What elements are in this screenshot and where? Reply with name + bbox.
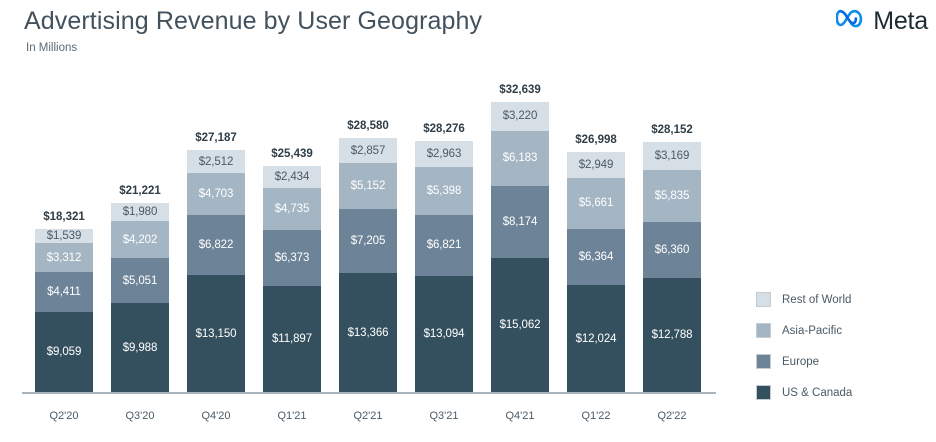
bar-total-label: $27,187 xyxy=(187,132,245,144)
legend-item[interactable]: US & Canada xyxy=(756,385,852,400)
legend-item-label: US & Canada xyxy=(782,387,852,399)
bar-stack[interactable]: $2,963$5,398$6,821$13,094 xyxy=(415,141,473,392)
chart-subtitle: In Millions xyxy=(26,42,77,54)
bar-segment-value[interactable]: $6,364 xyxy=(567,229,625,286)
bar-total-label: $21,221 xyxy=(111,185,169,197)
bar-segment-value[interactable]: $12,788 xyxy=(643,278,701,392)
x-axis-tick-label: Q3'21 xyxy=(409,410,479,422)
bar-segment-value[interactable]: $3,220 xyxy=(491,102,549,131)
bar-stack[interactable]: $3,169$5,835$6,360$12,788 xyxy=(643,142,701,392)
x-axis-tick-label: Q1'21 xyxy=(257,410,327,422)
x-axis-tick-label: Q2'21 xyxy=(333,410,403,422)
bar-segment-value[interactable]: $6,183 xyxy=(491,131,549,186)
bar-total-label: $28,580 xyxy=(339,120,397,132)
x-axis-tick-label: Q4'20 xyxy=(181,410,251,422)
bar-segment-value[interactable]: $13,366 xyxy=(339,273,397,392)
chart-legend: Rest of WorldAsia-PacificEuropeUS & Cana… xyxy=(756,292,852,400)
bar-total-label: $28,276 xyxy=(415,123,473,135)
bar-segment-value[interactable]: $3,169 xyxy=(643,142,701,170)
bar-segment-value[interactable]: $5,051 xyxy=(111,258,169,303)
bar-segment-value[interactable]: $1,539 xyxy=(35,229,93,243)
meta-wordmark: Meta xyxy=(873,9,928,34)
bar-total-label: $26,998 xyxy=(567,134,625,146)
bar-segment-value[interactable]: $6,822 xyxy=(187,215,245,276)
bar-segment-value[interactable]: $2,963 xyxy=(415,141,473,167)
bar-segment-value[interactable]: $2,949 xyxy=(567,152,625,178)
bar-stack[interactable]: $1,980$4,202$5,051$9,988 xyxy=(111,203,169,392)
meta-brand: Meta xyxy=(836,8,928,35)
bar-segment-value[interactable]: $9,059 xyxy=(35,312,93,392)
x-axis-tick-label: Q4'21 xyxy=(485,410,555,422)
x-axis-tick-label: Q3'20 xyxy=(105,410,175,422)
bar-segment-value[interactable]: $6,373 xyxy=(263,230,321,287)
legend-swatch-icon xyxy=(756,385,771,400)
bar-stack[interactable]: $2,434$4,735$6,373$11,897 xyxy=(263,166,321,392)
bar-segment-value[interactable]: $2,857 xyxy=(339,138,397,163)
legend-item[interactable]: Asia-Pacific xyxy=(756,323,852,338)
bar-segment-value[interactable]: $8,174 xyxy=(491,186,549,259)
bar-total-label: $28,152 xyxy=(643,124,701,136)
bar-segment-value[interactable]: $6,360 xyxy=(643,222,701,279)
bar-total-label: $18,321 xyxy=(35,211,93,223)
bar-segment-value[interactable]: $11,897 xyxy=(263,286,321,392)
bar-segment-value[interactable]: $15,062 xyxy=(491,258,549,392)
legend-item-label: Rest of World xyxy=(782,294,851,306)
legend-item[interactable]: Rest of World xyxy=(756,292,852,307)
bar-stack[interactable]: $1,539$3,312$4,411$9,059 xyxy=(35,229,93,392)
bar-segment-value[interactable]: $4,735 xyxy=(263,188,321,230)
bar-segment-value[interactable]: $2,434 xyxy=(263,166,321,188)
bar-stack[interactable]: $2,949$5,661$6,364$12,024 xyxy=(567,152,625,392)
bar-total-label: $25,439 xyxy=(263,148,321,160)
x-axis-tick-label: Q2'22 xyxy=(637,410,707,422)
bar-segment-value[interactable]: $4,202 xyxy=(111,221,169,258)
bar-stack[interactable]: $2,857$5,152$7,205$13,366 xyxy=(339,138,397,392)
bar-total-label: $32,639 xyxy=(491,84,549,96)
bar-segment-value[interactable]: $4,703 xyxy=(187,173,245,215)
x-axis-tick-label: Q2'20 xyxy=(29,410,99,422)
bar-segment-value[interactable]: $13,150 xyxy=(187,275,245,392)
legend-item-label: Europe xyxy=(782,356,819,368)
bar-stack[interactable]: $2,512$4,703$6,822$13,150 xyxy=(187,150,245,392)
bar-segment-value[interactable]: $5,152 xyxy=(339,163,397,209)
legend-item[interactable]: Europe xyxy=(756,354,852,369)
bar-segment-value[interactable]: $9,988 xyxy=(111,303,169,392)
bar-segment-value[interactable]: $1,980 xyxy=(111,203,169,221)
bar-segment-value[interactable]: $5,661 xyxy=(567,178,625,228)
meta-infinity-icon xyxy=(836,8,866,35)
legend-swatch-icon xyxy=(756,354,771,369)
bar-stack[interactable]: $3,220$6,183$8,174$15,062 xyxy=(491,102,549,392)
bar-segment-value[interactable]: $5,398 xyxy=(415,167,473,215)
bar-segment-value[interactable]: $5,835 xyxy=(643,170,701,222)
legend-item-label: Asia-Pacific xyxy=(782,325,842,337)
x-axis-tick-label: Q1'22 xyxy=(561,410,631,422)
bar-segment-value[interactable]: $6,821 xyxy=(415,215,473,276)
legend-swatch-icon xyxy=(756,292,771,307)
bar-segment-value[interactable]: $3,312 xyxy=(35,243,93,272)
page-title: Advertising Revenue by User Geography xyxy=(24,7,482,36)
x-axis-line xyxy=(22,392,716,394)
bar-segment-value[interactable]: $2,512 xyxy=(187,150,245,172)
bar-segment-value[interactable]: $4,411 xyxy=(35,272,93,311)
legend-swatch-icon xyxy=(756,323,771,338)
bar-segment-value[interactable]: $12,024 xyxy=(567,285,625,392)
bar-segment-value[interactable]: $13,094 xyxy=(415,276,473,392)
bar-segment-value[interactable]: $7,205 xyxy=(339,209,397,273)
